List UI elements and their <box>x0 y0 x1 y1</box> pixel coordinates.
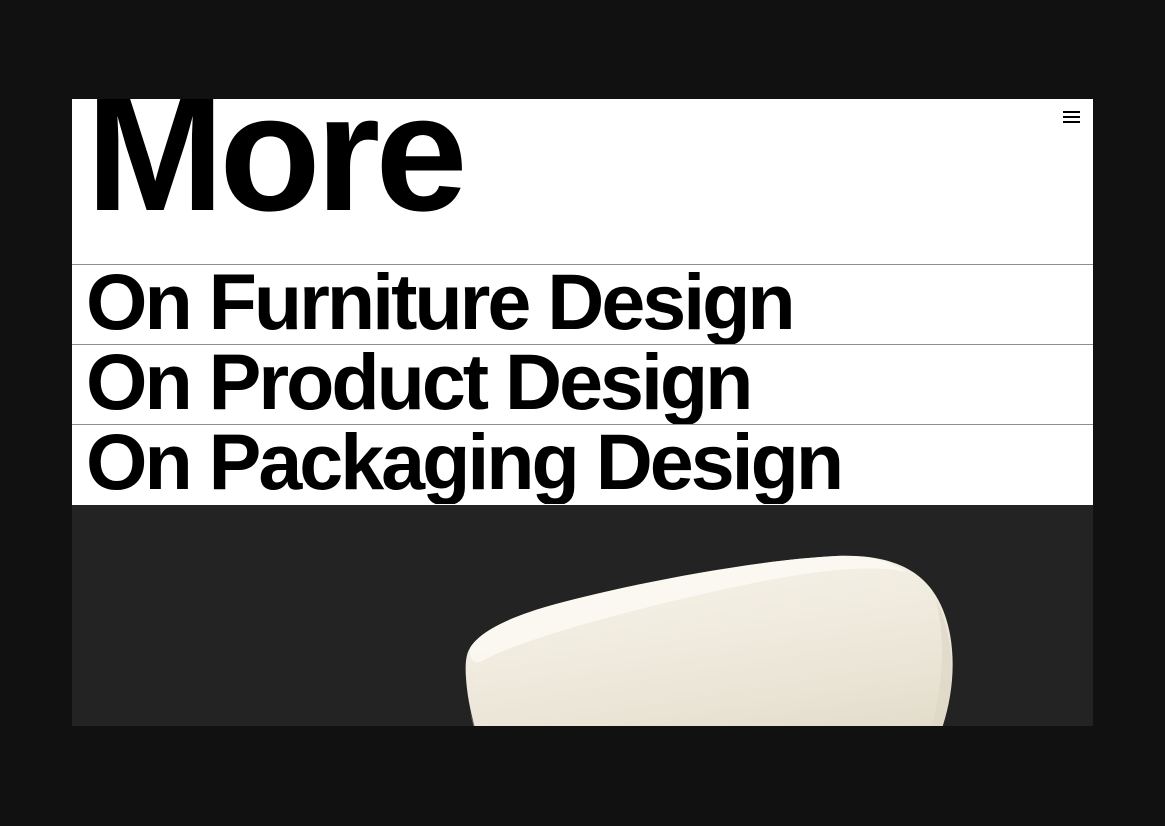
hamburger-bar-1 <box>1063 111 1080 113</box>
hamburger-bar-2 <box>1063 116 1080 118</box>
menu-item-label: On Packaging Design <box>86 424 841 502</box>
page-viewport: More On Furniture Design On Product Desi… <box>0 0 1165 826</box>
hero-image-area <box>72 505 1093 726</box>
hamburger-bar-3 <box>1063 121 1080 123</box>
menu-item-label: On Product Design <box>86 344 750 422</box>
headline-block: More <box>72 99 1093 264</box>
hamburger-menu-icon[interactable] <box>1058 104 1084 130</box>
menu-item-packaging-design[interactable]: On Packaging Design <box>72 424 1093 504</box>
site-frame: More On Furniture Design On Product Desi… <box>72 99 1093 726</box>
menu-item-furniture-design[interactable]: On Furniture Design <box>72 264 1093 344</box>
chair-seat-image <box>464 552 958 726</box>
menu-card: More On Furniture Design On Product Desi… <box>72 99 1093 505</box>
menu-item-product-design[interactable]: On Product Design <box>72 344 1093 424</box>
page-title: More <box>86 99 463 237</box>
menu-list: On Furniture Design On Product Design On… <box>72 264 1093 504</box>
menu-item-label: On Furniture Design <box>86 264 793 342</box>
